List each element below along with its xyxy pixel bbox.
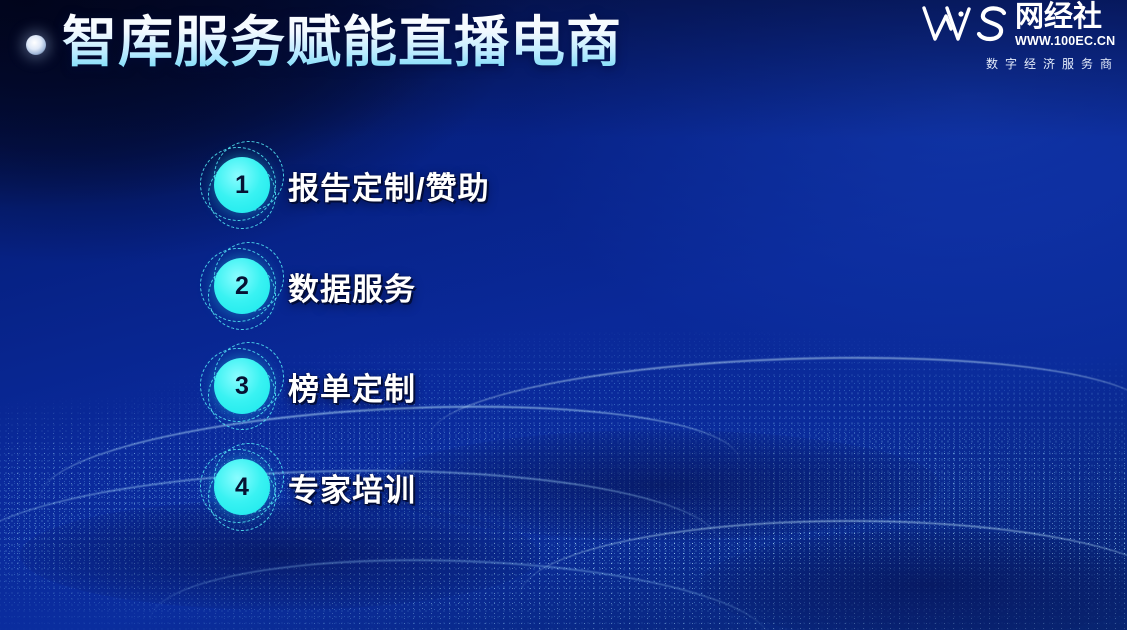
wave-trough-shading bbox=[700, 530, 1127, 630]
numbered-badge: 3 bbox=[190, 336, 294, 436]
wave-ridge-line bbox=[148, 549, 773, 630]
logo-tagline: 数字经济服务商 bbox=[921, 55, 1121, 72]
list-item-label: 榜单定制 bbox=[288, 364, 416, 409]
list-item[interactable]: 4 专家培训 bbox=[190, 437, 750, 537]
numbered-badge: 2 bbox=[190, 236, 294, 336]
list-item-label: 报告定制/赞助 bbox=[288, 163, 490, 208]
list-item[interactable]: 2 数据服务 bbox=[190, 236, 750, 336]
badge-number: 1 bbox=[214, 157, 270, 213]
logo-row: 网经社 WWW.100EC.CN bbox=[921, 4, 1121, 50]
logo-url: WWW.100EC.CN bbox=[1015, 34, 1115, 48]
list-item[interactable]: 3 榜单定制 bbox=[190, 336, 750, 436]
brand-logo: 网经社 WWW.100EC.CN 数字经济服务商 bbox=[921, 4, 1121, 72]
glow-dot-icon bbox=[26, 35, 46, 55]
page-title: 智库服务赋能直播电商 bbox=[62, 8, 622, 77]
list-item[interactable]: 1 报告定制/赞助 bbox=[190, 135, 750, 235]
wave-band bbox=[0, 530, 1127, 630]
list-item-label: 专家培训 bbox=[288, 465, 416, 510]
wjs-monogram-icon bbox=[921, 5, 1013, 50]
slide-canvas: 智库服务赋能直播电商 网经社 WWW.100EC.CN 数字经济服务商 bbox=[0, 0, 1127, 630]
numbered-badge: 1 bbox=[190, 135, 294, 235]
list-item-label: 数据服务 bbox=[288, 264, 416, 309]
numbered-badge: 4 bbox=[190, 437, 294, 537]
logo-name-cn: 网经社 bbox=[1015, 1, 1102, 33]
badge-number: 2 bbox=[214, 258, 270, 314]
dot-grid bbox=[0, 530, 1127, 630]
logo-text-block: 网经社 WWW.100EC.CN bbox=[1015, 4, 1121, 50]
badge-number: 4 bbox=[214, 459, 270, 515]
badge-number: 3 bbox=[214, 358, 270, 414]
